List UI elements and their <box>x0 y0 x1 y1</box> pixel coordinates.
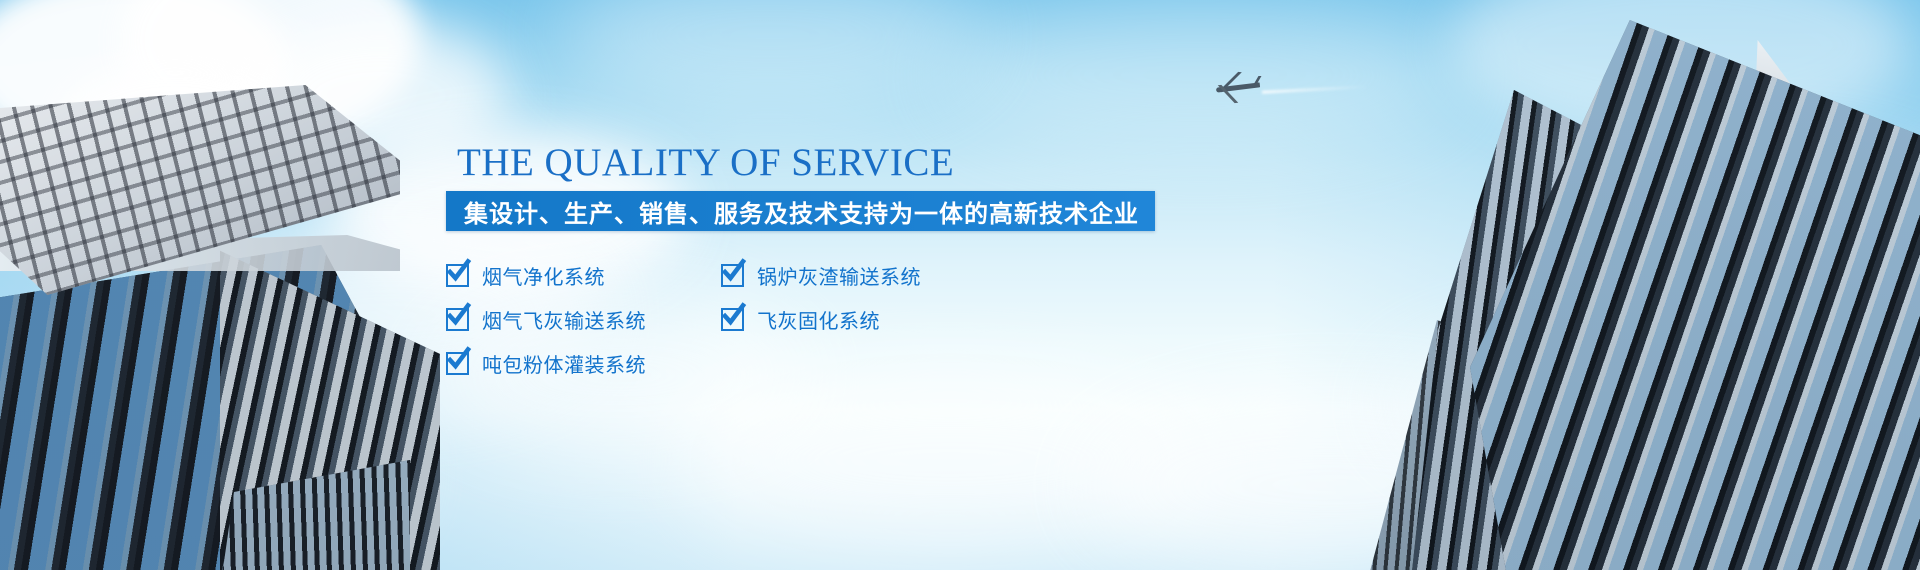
checkbox-checked-icon[interactable] <box>446 264 469 287</box>
feature-label: 烟气净化系统 <box>482 261 605 290</box>
checkbox-checked-icon[interactable] <box>721 308 744 331</box>
banner-content: THE QUALITY OF SERVICE 集设计、生产、销售、服务及技术支持… <box>0 0 1920 570</box>
banner-subtitle-bar: 集设计、生产、销售、服务及技术支持为一体的高新技术企业 <box>446 191 1155 231</box>
feature-row: 烟气飞灰输送系统 飞灰固化系统 <box>446 297 1046 341</box>
banner-headline: THE QUALITY OF SERVICE <box>457 140 954 185</box>
feature-label: 飞灰固化系统 <box>757 305 880 334</box>
checkbox-checked-icon[interactable] <box>446 308 469 331</box>
feature-row: 烟气净化系统 锅炉灰渣输送系统 <box>446 253 1046 297</box>
checkbox-checked-icon[interactable] <box>446 352 469 375</box>
feature-list: 烟气净化系统 锅炉灰渣输送系统 <box>446 253 1046 385</box>
feature-item-bulk-bag-powder-filling[interactable]: 吨包粉体灌装系统 <box>446 349 721 378</box>
checkbox-checked-icon[interactable] <box>721 264 744 287</box>
feature-item-boiler-ash-conveying[interactable]: 锅炉灰渣输送系统 <box>721 261 996 290</box>
hero-banner: THE QUALITY OF SERVICE 集设计、生产、销售、服务及技术支持… <box>0 0 1920 570</box>
feature-item-flue-gas-fly-ash-conveying[interactable]: 烟气飞灰输送系统 <box>446 305 721 334</box>
feature-label: 吨包粉体灌装系统 <box>482 349 646 378</box>
feature-label: 锅炉灰渣输送系统 <box>757 261 921 290</box>
feature-row: 吨包粉体灌装系统 <box>446 341 1046 385</box>
feature-item-fly-ash-solidification[interactable]: 飞灰固化系统 <box>721 305 996 334</box>
feature-label: 烟气飞灰输送系统 <box>482 305 646 334</box>
feature-item-smoke-purification[interactable]: 烟气净化系统 <box>446 261 721 290</box>
